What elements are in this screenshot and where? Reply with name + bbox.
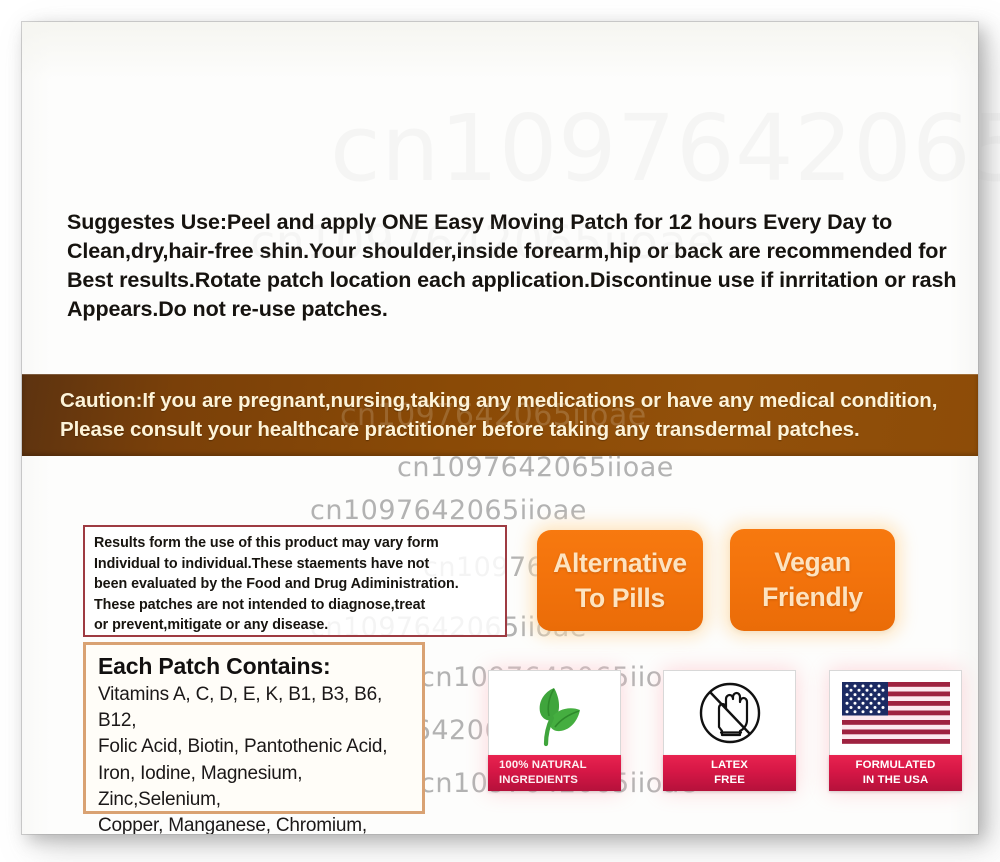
caution-text: Caution:If you are pregnant,nursing,taki… [22,386,955,444]
directions-line-1: Suggestes Use:Peel and apply ONE Easy Mo… [67,208,957,237]
directions-line-3: Best results.Rotate patch location each … [67,266,957,295]
ingredients-title: Each Patch Contains: [98,652,412,681]
seal-natural-ingredients: 100% NATURAL INGREDIENTS [488,670,621,792]
badge-alt-line-1: Alternative [553,548,687,578]
directions-line-4: Appears.Do not re-use patches. [67,295,957,324]
caution-line-1: Caution:If you are pregnant,nursing,taki… [60,386,937,415]
seal-latex-free: LATEX FREE [663,670,796,792]
disclaimer-line-5: or prevent,mitigate or any disease. [94,615,497,636]
caution-banner: Caution:If you are pregnant,nursing,taki… [22,374,978,456]
ingredients-line-1: Vitamins A, C, D, E, K, B1, B3, B6, B12, [98,682,412,734]
seal-natural-line-1: 100% NATURAL [499,758,587,773]
directions-line-2: Clean,dry,hair-free shin.Your shoulder,i… [67,237,957,266]
ingredients-line-3: Iron, Iodine, Magnesium, Zinc,Selenium, [98,761,412,813]
badge-alt-line-2: To Pills [575,583,665,613]
seal-usa-art [829,670,962,756]
badge-alternative-to-pills: Alternative To Pills [537,530,703,631]
badge-vegan-friendly-label: Vegan Friendly [762,545,863,615]
ingredients-list: Vitamins A, C, D, E, K, B1, B3, B6, B12,… [98,682,412,834]
seal-latex-art [663,670,796,756]
ingredients-line-2: Folic Acid, Biotin, Pantothenic Acid, [98,734,412,760]
seal-formulated-in-usa: FORMULATED IN THE USA [829,670,962,792]
ingredients-line-4: Copper, Manganese, Chromium, [98,813,412,834]
seal-natural-art [488,670,621,756]
leaf-icon [518,678,592,748]
disclaimer-line-3: been evaluated by the Food and Drug Adim… [94,574,497,595]
usa-flag-icon [842,682,950,744]
screenshot-stage: Suggestes Use:Peel and apply ONE Easy Mo… [0,0,1000,862]
badge-alternative-to-pills-label: Alternative To Pills [553,546,687,616]
product-label-card: Suggestes Use:Peel and apply ONE Easy Mo… [22,22,978,834]
badge-vegan-line-2: Friendly [762,582,863,612]
seal-usa-banner: FORMULATED IN THE USA [829,755,962,791]
seal-usa-line-2: IN THE USA [863,773,929,788]
no-latex-glove-icon [692,675,768,751]
badge-vegan-line-1: Vegan [774,547,851,577]
caution-line-2: Please consult your healthcare practitio… [60,415,937,444]
badge-vegan-friendly: Vegan Friendly [730,529,895,631]
seal-usa-line-1: FORMULATED [856,758,936,773]
seal-latex-line-1: LATEX [711,758,748,773]
seal-latex-banner: LATEX FREE [663,755,796,791]
seal-natural-banner: 100% NATURAL INGREDIENTS [488,755,621,791]
seal-natural-line-2: INGREDIENTS [499,773,578,788]
disclaimer-line-1: Results form the use of this product may… [94,533,497,554]
disclaimer-line-2: Individual to individual.These staements… [94,554,497,575]
seal-latex-line-2: FREE [714,773,745,788]
ingredients-box: Each Patch Contains: Vitamins A, C, D, E… [83,642,425,814]
directions-block: Suggestes Use:Peel and apply ONE Easy Mo… [67,208,957,324]
disclaimer-line-4: These patches are not intended to diagno… [94,595,497,616]
disclaimer-box: Results form the use of this product may… [83,525,507,637]
